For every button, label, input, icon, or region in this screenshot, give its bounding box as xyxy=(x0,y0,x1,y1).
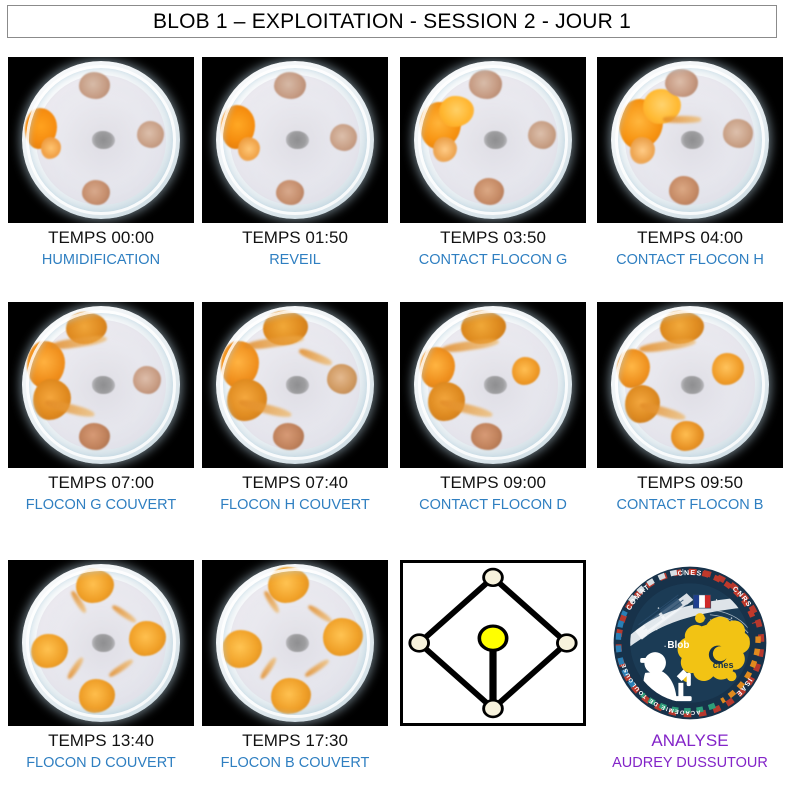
ring-label-cnes: CNES xyxy=(677,570,702,578)
panel-event-label: FLOCON G COUVERT xyxy=(8,497,194,514)
panel-cell-1: TEMPS 00:00 HUMIDIFICATION xyxy=(8,57,194,269)
node-top xyxy=(484,569,503,586)
panel-cell-8: TEMPS 09:50 CONTACT FLOCON B xyxy=(597,302,783,514)
panel-cell-4: TEMPS 04:00 CONTACT FLOCON H xyxy=(597,57,783,269)
network-diagram xyxy=(400,560,586,726)
node-bottom xyxy=(484,700,503,717)
panel-event-label: REVEIL xyxy=(202,252,388,269)
cnes-blob-patch-svg: CNES CNRS COMAT ISAE ACADEMIE DE TOULOUS… xyxy=(597,560,783,726)
petri-photo-2 xyxy=(202,57,388,223)
panel-event-label: HUMIDIFICATION xyxy=(8,252,194,269)
petri-photo-7 xyxy=(400,302,586,468)
mission-patch: CNES CNRS COMAT ISAE ACADEMIE DE TOULOUS… xyxy=(597,560,783,726)
node-right xyxy=(557,635,576,652)
petri-dish-graphic xyxy=(611,306,769,464)
panel-event-label: FLOCON D COUVERT xyxy=(8,755,194,772)
svg-text:cnes: cnes xyxy=(713,660,734,670)
panel-event-label: FLOCON H COUVERT xyxy=(202,497,388,514)
analysis-caption: ANALYSE xyxy=(597,731,783,751)
petri-photo-8 xyxy=(597,302,783,468)
panel-cell-3: TEMPS 03:50 CONTACT FLOCON G xyxy=(400,57,586,269)
blob-session-sheet: BLOB 1 – EXPLOITATION - SESSION 2 - JOUR… xyxy=(0,0,790,800)
petri-dish-graphic xyxy=(414,306,572,464)
petri-photo-1 xyxy=(8,57,194,223)
petri-dish-graphic xyxy=(22,61,180,219)
network-graph-svg xyxy=(403,563,583,723)
patch-center-text: Blob xyxy=(667,640,689,651)
panel-cell-5: TEMPS 07:00 FLOCON G COUVERT xyxy=(8,302,194,514)
petri-dish-graphic xyxy=(216,564,374,722)
panel-time-label: TEMPS 00:00 xyxy=(8,228,194,248)
petri-photo-9 xyxy=(8,560,194,726)
page-title: BLOB 1 – EXPLOITATION - SESSION 2 - JOUR… xyxy=(153,10,631,34)
panel-event-label: FLOCON B COUVERT xyxy=(202,755,388,772)
petri-photo-6 xyxy=(202,302,388,468)
petri-photo-4 xyxy=(597,57,783,223)
petri-dish-graphic xyxy=(611,61,769,219)
panel-event-label: CONTACT FLOCON D xyxy=(400,497,586,514)
node-left xyxy=(410,635,429,652)
petri-dish-graphic xyxy=(22,306,180,464)
panel-cell-network: RESEAU TYPE =15, LGR=5 xyxy=(400,560,586,606)
petri-dish-graphic xyxy=(22,564,180,722)
panel-time-label: TEMPS 09:50 xyxy=(597,473,783,493)
petri-dish-graphic xyxy=(216,306,374,464)
petri-dish-graphic xyxy=(216,61,374,219)
panel-event-label: CONTACT FLOCON G xyxy=(400,252,586,269)
panel-cell-7: TEMPS 09:00 CONTACT FLOCON D xyxy=(400,302,586,514)
panel-cell-patch: CNES CNRS COMAT ISAE ACADEMIE DE TOULOUS… xyxy=(597,560,783,772)
analyst-name: AUDREY DUSSUTOUR xyxy=(597,755,783,772)
page-title-box: BLOB 1 – EXPLOITATION - SESSION 2 - JOUR… xyxy=(7,5,777,38)
french-flag-icon xyxy=(693,595,710,608)
panel-event-label: CONTACT FLOCON B xyxy=(597,497,783,514)
petri-photo-3 xyxy=(400,57,586,223)
panel-cell-6: TEMPS 07:40 FLOCON H COUVERT xyxy=(202,302,388,514)
panel-time-label: TEMPS 13:40 xyxy=(8,731,194,751)
panel-time-label: TEMPS 01:50 xyxy=(202,228,388,248)
edge-left-bottom xyxy=(419,643,493,709)
panel-time-label: TEMPS 04:00 xyxy=(597,228,783,248)
node-center xyxy=(479,626,506,650)
panel-cell-10: TEMPS 17:30 FLOCON B COUVERT xyxy=(202,560,388,772)
panel-time-label: TEMPS 17:30 xyxy=(202,731,388,751)
panel-time-label: TEMPS 09:00 xyxy=(400,473,586,493)
panel-time-label: TEMPS 07:40 xyxy=(202,473,388,493)
panel-event-label: CONTACT FLOCON H xyxy=(597,252,783,269)
petri-photo-5 xyxy=(8,302,194,468)
petri-photo-10 xyxy=(202,560,388,726)
edge-right-bottom xyxy=(493,643,567,709)
petri-dish-graphic xyxy=(414,61,572,219)
panel-cell-2: TEMPS 01:50 REVEIL xyxy=(202,57,388,269)
panel-time-label: TEMPS 07:00 xyxy=(8,473,194,493)
panel-cell-9: TEMPS 13:40 FLOCON D COUVERT xyxy=(8,560,194,772)
panel-time-label: TEMPS 03:50 xyxy=(400,228,586,248)
